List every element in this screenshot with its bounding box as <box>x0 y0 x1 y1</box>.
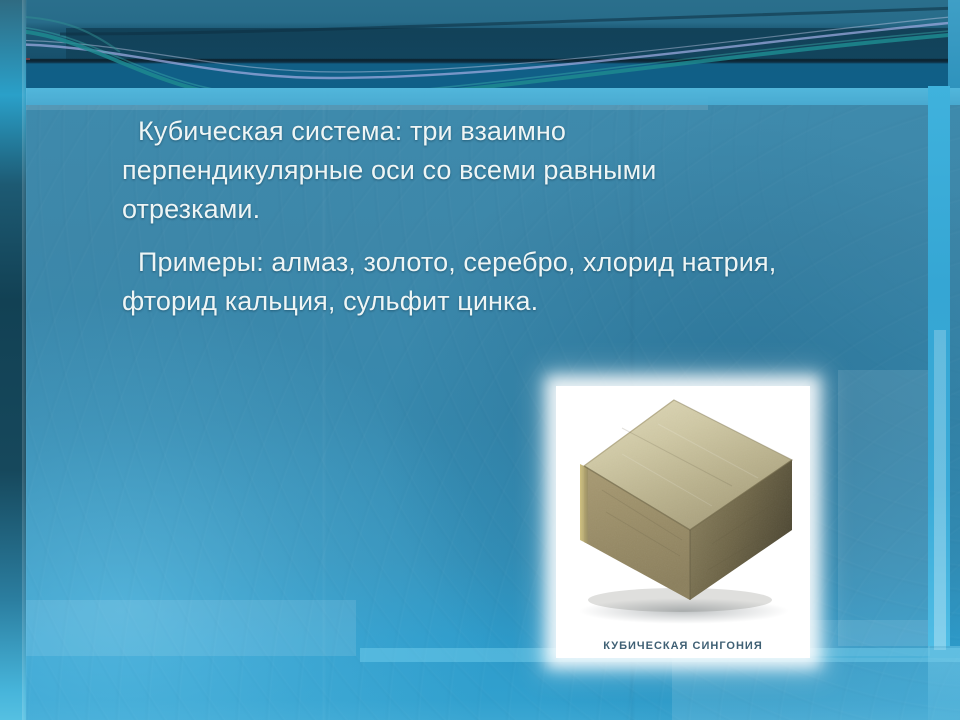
background-seams <box>0 0 960 720</box>
cube-image-frame: КУБИЧЕСКАЯ СИНГОНИЯ <box>556 386 810 658</box>
slide-paragraph-2: Примеры: алмаз, золото, серебро, хлорид … <box>122 243 802 321</box>
cube-image-caption: КУБИЧЕСКАЯ СИНГОНИЯ <box>556 640 810 652</box>
header-hairline <box>0 59 960 61</box>
left-edge-rail-highlight <box>22 0 27 720</box>
header-inner-shade <box>66 28 960 61</box>
right-rail-cap <box>948 0 960 88</box>
right-rail-tail <box>928 646 960 720</box>
right-rail-highlight <box>934 330 946 650</box>
slide-paragraph-1: Кубическая система: три взаимно перпенди… <box>122 112 802 229</box>
slide-header-band <box>0 0 960 88</box>
slide-body-text: Кубическая система: три взаимно перпенди… <box>122 112 802 335</box>
cube-image-vignette <box>556 386 810 658</box>
header-underbar <box>0 88 960 105</box>
presentation-slide: Кубическая система: три взаимно перпенди… <box>0 0 960 720</box>
